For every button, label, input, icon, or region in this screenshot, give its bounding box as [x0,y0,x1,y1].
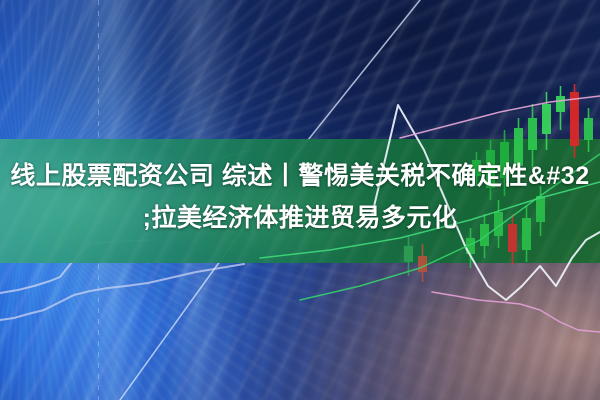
banner-image: 线上股票配资公司 综述丨警惕美关税不确定性&#32 ;拉美经济体推进贸易多元化 [0,0,600,400]
vignette-overlay [0,0,600,400]
